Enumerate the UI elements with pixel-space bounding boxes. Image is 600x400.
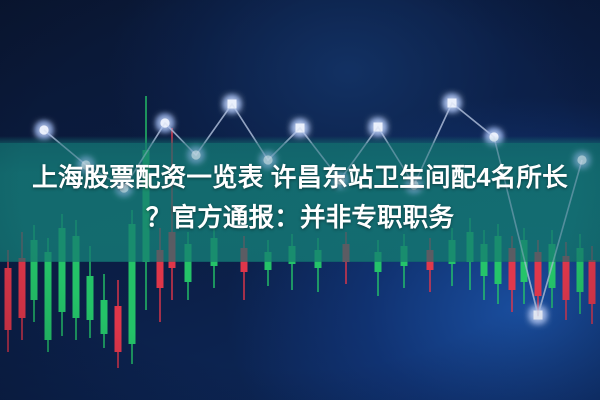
banner-image: 上海股票配资一览表 许昌东站卫生间配4名所长 ？官方通报：并非专职职务 (0, 0, 600, 400)
headline-line-1: 上海股票配资一览表 许昌东站卫生间配4名所长 (32, 164, 568, 192)
headline-line-2: ？官方通报：并非专职职务 (8, 198, 592, 238)
headline-text: 上海股票配资一览表 许昌东站卫生间配4名所长 ？官方通报：并非专职职务 (0, 158, 600, 238)
